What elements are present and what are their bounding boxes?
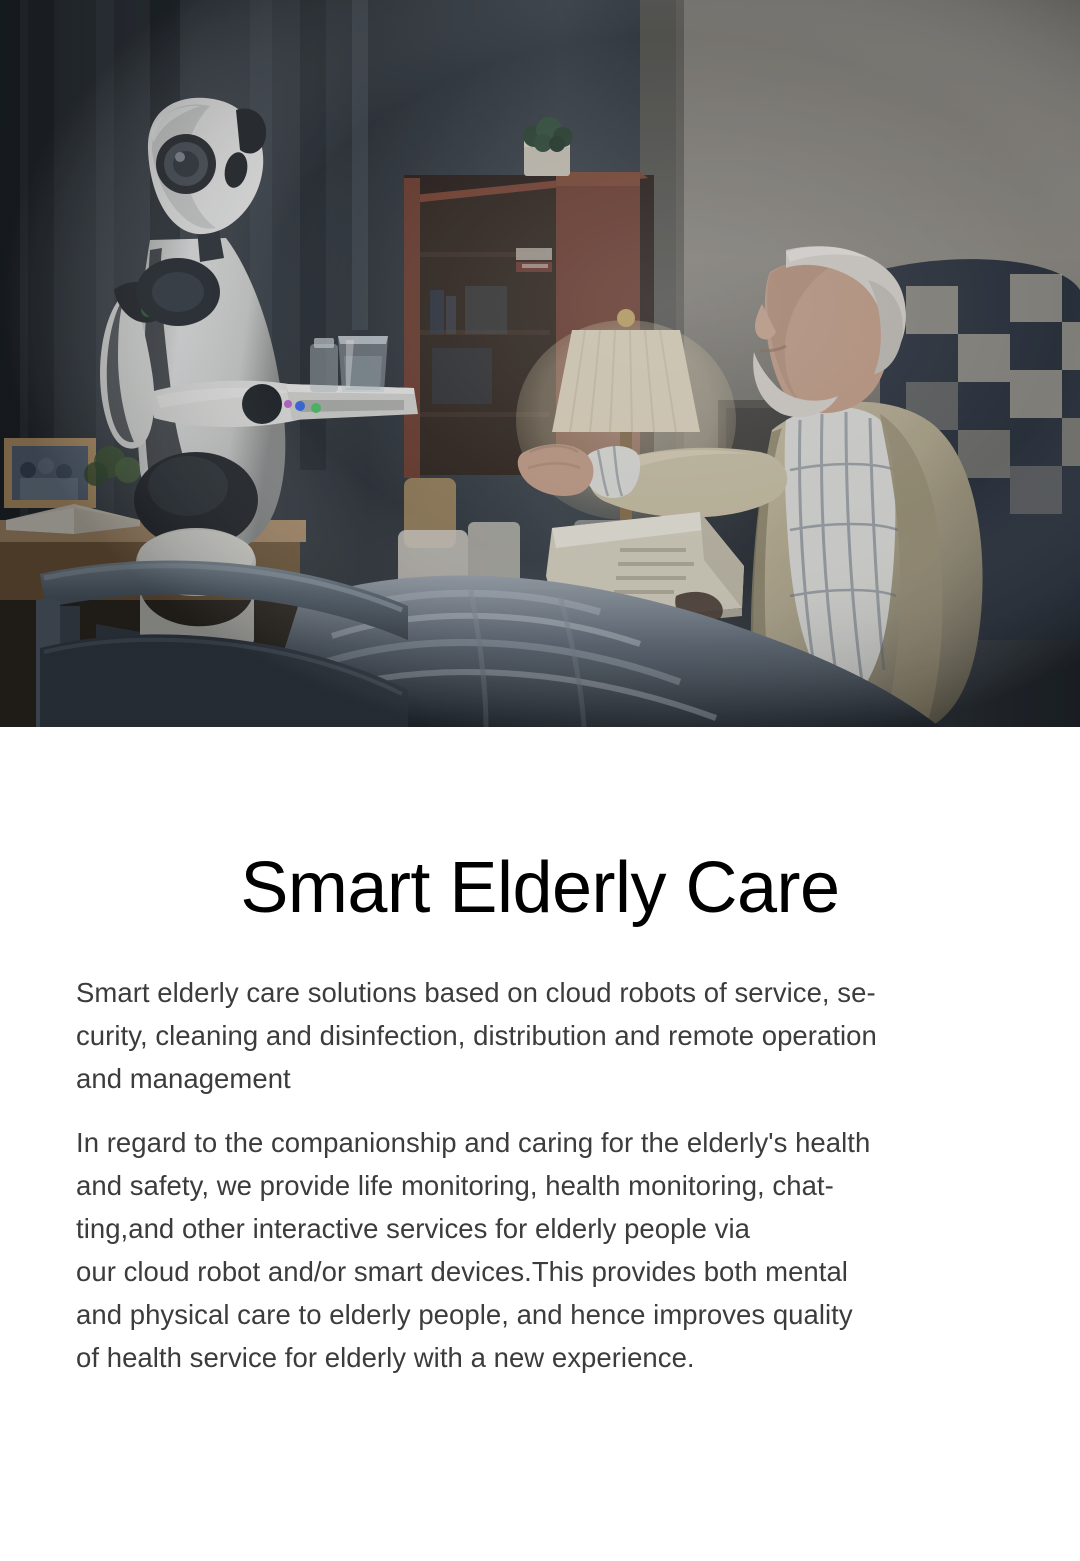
paragraph-1: Smart elderly care solutions based on cl…	[76, 971, 1008, 1100]
hero-illustration	[0, 0, 1080, 727]
body-copy: Smart elderly care solutions based on cl…	[0, 971, 1080, 1379]
paragraph-2: In regard to the companionship and carin…	[76, 1121, 1008, 1379]
hero-image	[0, 0, 1080, 727]
page-title: Smart Elderly Care	[0, 727, 1080, 924]
content-section: Smart Elderly Care Smart elderly care so…	[0, 727, 1080, 1379]
